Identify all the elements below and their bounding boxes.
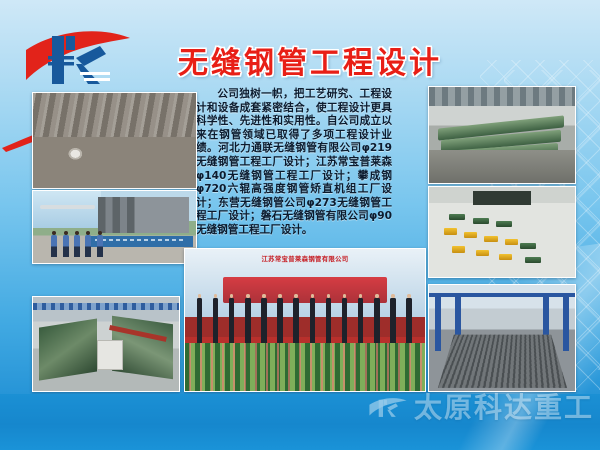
photo-green-machinery-hall: 车间内机组安装 [428,86,576,184]
official [213,294,219,342]
steel-column [563,296,569,351]
cooling-bed [437,334,566,388]
official [261,294,267,342]
stacked-stock [473,191,531,205]
photo-factory-gate-staff: 河北力通联无缝钢管有限公司厂区 [32,190,197,264]
photo-equipment-assembly-yard: 设备总装场地 [428,186,576,278]
photo-opening-ceremony: 江苏常宝普莱森钢管有限公司 江苏常宝普莱森钢管有限公司 [184,248,426,392]
yellow-unit [499,254,512,260]
officials-row [190,294,420,342]
green-unit [449,214,465,220]
sky-area [33,191,101,228]
official [310,294,316,342]
green-unit [525,257,541,263]
overhead-walkway [40,205,95,209]
photo-image [33,191,196,263]
official [342,294,348,342]
photo-image [33,93,196,188]
official [406,294,412,342]
yellow-unit [444,228,457,234]
official [326,294,332,342]
kedalogo-icon [22,28,134,90]
official [277,294,283,342]
banner-company-name: 江苏常宝普莱森钢管有限公司 [204,254,406,263]
yellow-unit [505,239,518,245]
official [293,294,299,342]
green-unit [496,221,512,227]
photo-image [429,87,575,183]
yellow-unit [476,250,489,256]
roof-beam [429,293,575,296]
paragraph-text: 公司独树一帜，把工艺研究、工程设计和设备成套紧密结合，使工程设计更具科学性、先进… [196,88,392,236]
green-unit [520,243,536,249]
body-paragraph: 公司独树一帜，把工艺研究、工程设计和设备成套紧密结合，使工程设计更具科学性、先进… [196,88,392,238]
company-logo [22,28,134,90]
photo-image [429,187,575,277]
green-unit [473,218,489,224]
steel-column [435,296,441,351]
blue-gantry-rail [33,303,179,311]
official [197,294,203,342]
photo-image [33,297,179,391]
official [358,294,364,342]
photo-image: 江苏常宝普莱森钢管有限公司 [185,249,425,391]
photo-cooling-bed-hall: 钢管冷床车间 [428,284,576,392]
yellow-unit [452,246,465,252]
official [229,294,235,342]
poster-page: 无缝钢管工程设计 公司独树一帜，把工艺研究、工程设计和设备成套紧密结合，使工程设… [0,0,600,450]
page-title: 无缝钢管工程设计 [140,44,480,84]
bottom-bar-shine [370,394,600,450]
mill-stand-left [39,319,97,381]
official [245,294,251,342]
official [374,294,380,342]
yellow-unit [464,232,477,238]
yellow-unit [484,236,497,242]
photo-rolling-mill-equipment: 钢管轧制机组 [32,296,180,392]
control-cabinet [97,340,122,370]
pipe-texture [33,93,196,137]
photo-seamless-steel-pipes: 无缝钢管成品堆放 [32,92,197,189]
bottom-bar [0,394,600,450]
photo-image [429,285,575,391]
factory-building [98,197,189,233]
official [390,294,396,342]
hall-roof-trusses [429,87,575,106]
